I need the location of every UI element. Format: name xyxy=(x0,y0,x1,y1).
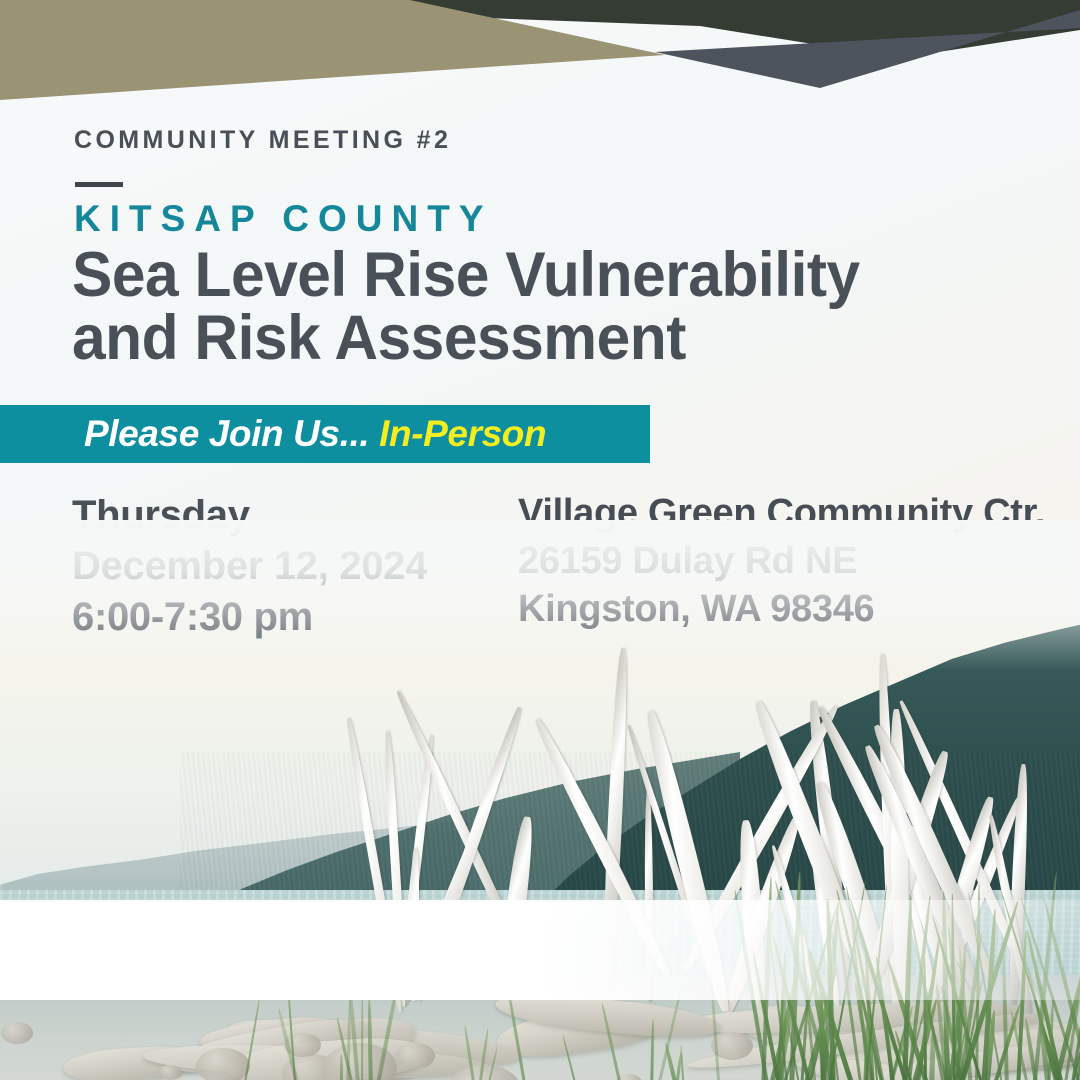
top-shapes-svg xyxy=(0,0,1080,120)
join-us-white: Please Join Us... xyxy=(84,413,369,454)
page-title-line-1: Sea Level Rise Vulnerability xyxy=(72,244,1022,307)
divider-rule xyxy=(75,182,123,187)
county-label: KITSAP COUNTY xyxy=(74,198,493,240)
join-us-text: Please Join Us... In-Person xyxy=(0,413,546,455)
footer-logo-bar: DEPARTMENT OF ECOLOGY State of Washingto… xyxy=(0,900,1080,1000)
page-title: Sea Level Rise Vulnerability and Risk As… xyxy=(72,244,1022,370)
top-geometric-banner xyxy=(0,0,1080,120)
join-us-banner: Please Join Us... In-Person xyxy=(0,405,650,463)
photo-top-fade xyxy=(0,520,1080,670)
kicker-text: COMMUNITY MEETING #2 xyxy=(74,126,451,155)
poster-root: COMMUNITY MEETING #2 KITSAP COUNTY Sea L… xyxy=(0,0,1080,1080)
join-us-highlight: In-Person xyxy=(379,413,546,454)
page-title-line-2: and Risk Assessment xyxy=(72,307,1022,370)
